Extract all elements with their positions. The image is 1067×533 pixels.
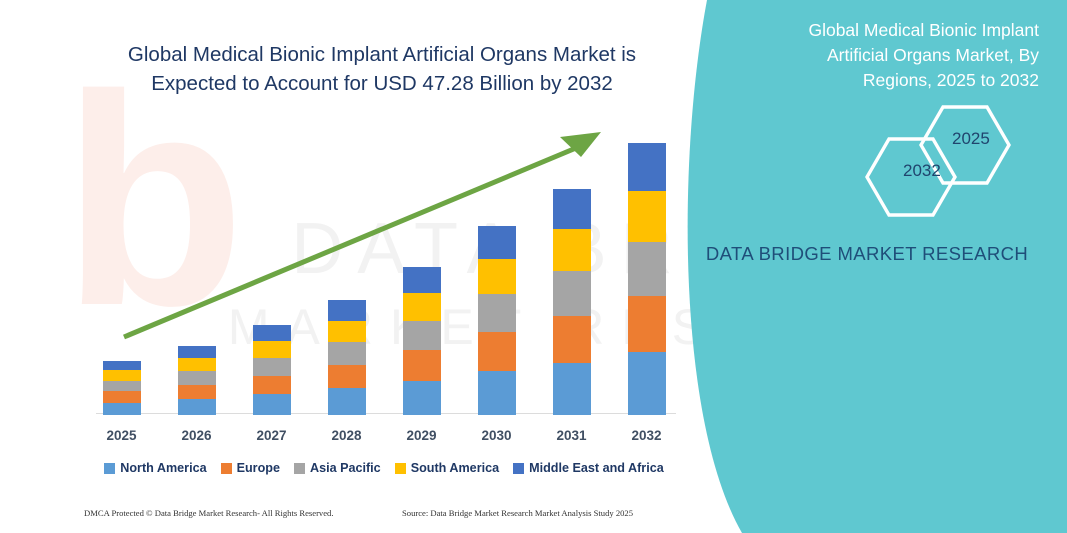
bar-segment [403,350,441,381]
bar-segment [328,300,366,320]
legend-swatch [104,463,115,474]
bar-segment [628,143,666,191]
bar-column [478,226,516,415]
bar-segment [103,391,141,402]
bar-segment [178,371,216,385]
bar-segment [178,358,216,371]
bar-segment [403,321,441,350]
hexagon-label-2025: 2025 [952,129,990,149]
legend-label: North America [120,461,206,475]
legend-label: Asia Pacific [310,461,381,475]
x-axis-label: 2029 [392,428,452,443]
legend-label: South America [411,461,499,475]
chart-legend: North AmericaEuropeAsia PacificSouth Ame… [84,459,684,477]
x-axis-label: 2028 [317,428,377,443]
bar-segment [553,229,591,271]
bar-segment [628,242,666,295]
bar-segment [328,388,366,415]
bar-segment [178,346,216,358]
bar-segment [103,381,141,392]
bar-segment [553,189,591,229]
bar-column [103,361,141,415]
bar-segment [253,341,291,358]
bar-column [178,346,216,415]
page-title: Global Medical Bionic Implant Artificial… [84,40,680,98]
footer-source: Source: Data Bridge Market Research Mark… [402,508,633,518]
bar-segment [328,321,366,342]
legend-swatch [221,463,232,474]
bar-segment [103,361,141,371]
legend-item: Middle East and Africa [513,461,664,475]
x-axis-label: 2026 [167,428,227,443]
bar-column [253,325,291,415]
bar-segment [328,365,366,389]
bar-segment [478,259,516,295]
legend-label: Europe [237,461,280,475]
bar-segment [253,394,291,415]
stacked-bar-chart [84,110,684,415]
footer-copyright: DMCA Protected © Data Bridge Market Rese… [84,508,334,518]
bar-segment [253,325,291,341]
bar-segment [328,342,366,365]
bar-column [553,189,591,415]
legend-swatch [395,463,406,474]
legend-swatch [513,463,524,474]
bar-segment [553,363,591,415]
bar-column [328,300,366,415]
bar-column [628,143,666,415]
bar-segment [178,385,216,399]
legend-item: Asia Pacific [294,461,381,475]
bar-segment [553,316,591,363]
bar-segment [403,293,441,321]
legend-item: Europe [221,461,280,475]
bar-segment [478,371,516,415]
bar-segment [403,381,441,415]
x-axis-label: 2027 [242,428,302,443]
bar-segment [478,226,516,259]
bar-segment [628,296,666,352]
bar-segment [178,399,216,415]
bar-segment [628,352,666,415]
bar-segment [253,376,291,394]
right-panel: Global Medical Bionic Implant Artificial… [667,0,1067,533]
bar-column [403,267,441,415]
bar-segment [628,191,666,242]
bar-segment [103,403,141,415]
bar-segment [403,267,441,293]
legend-item: South America [395,461,499,475]
x-axis-label: 2030 [467,428,527,443]
hexagon-label-2032: 2032 [903,161,941,181]
x-axis-label: 2025 [92,428,152,443]
x-axis-label: 2031 [542,428,602,443]
bar-segment [478,332,516,371]
bar-segment [553,271,591,316]
bar-segment [478,294,516,331]
panel-brand-text: DATA BRIDGE MARKET RESEARCH [687,240,1047,267]
bar-segment [103,370,141,380]
legend-swatch [294,463,305,474]
legend-item: North America [104,461,206,475]
bar-segment [253,358,291,376]
legend-label: Middle East and Africa [529,461,664,475]
